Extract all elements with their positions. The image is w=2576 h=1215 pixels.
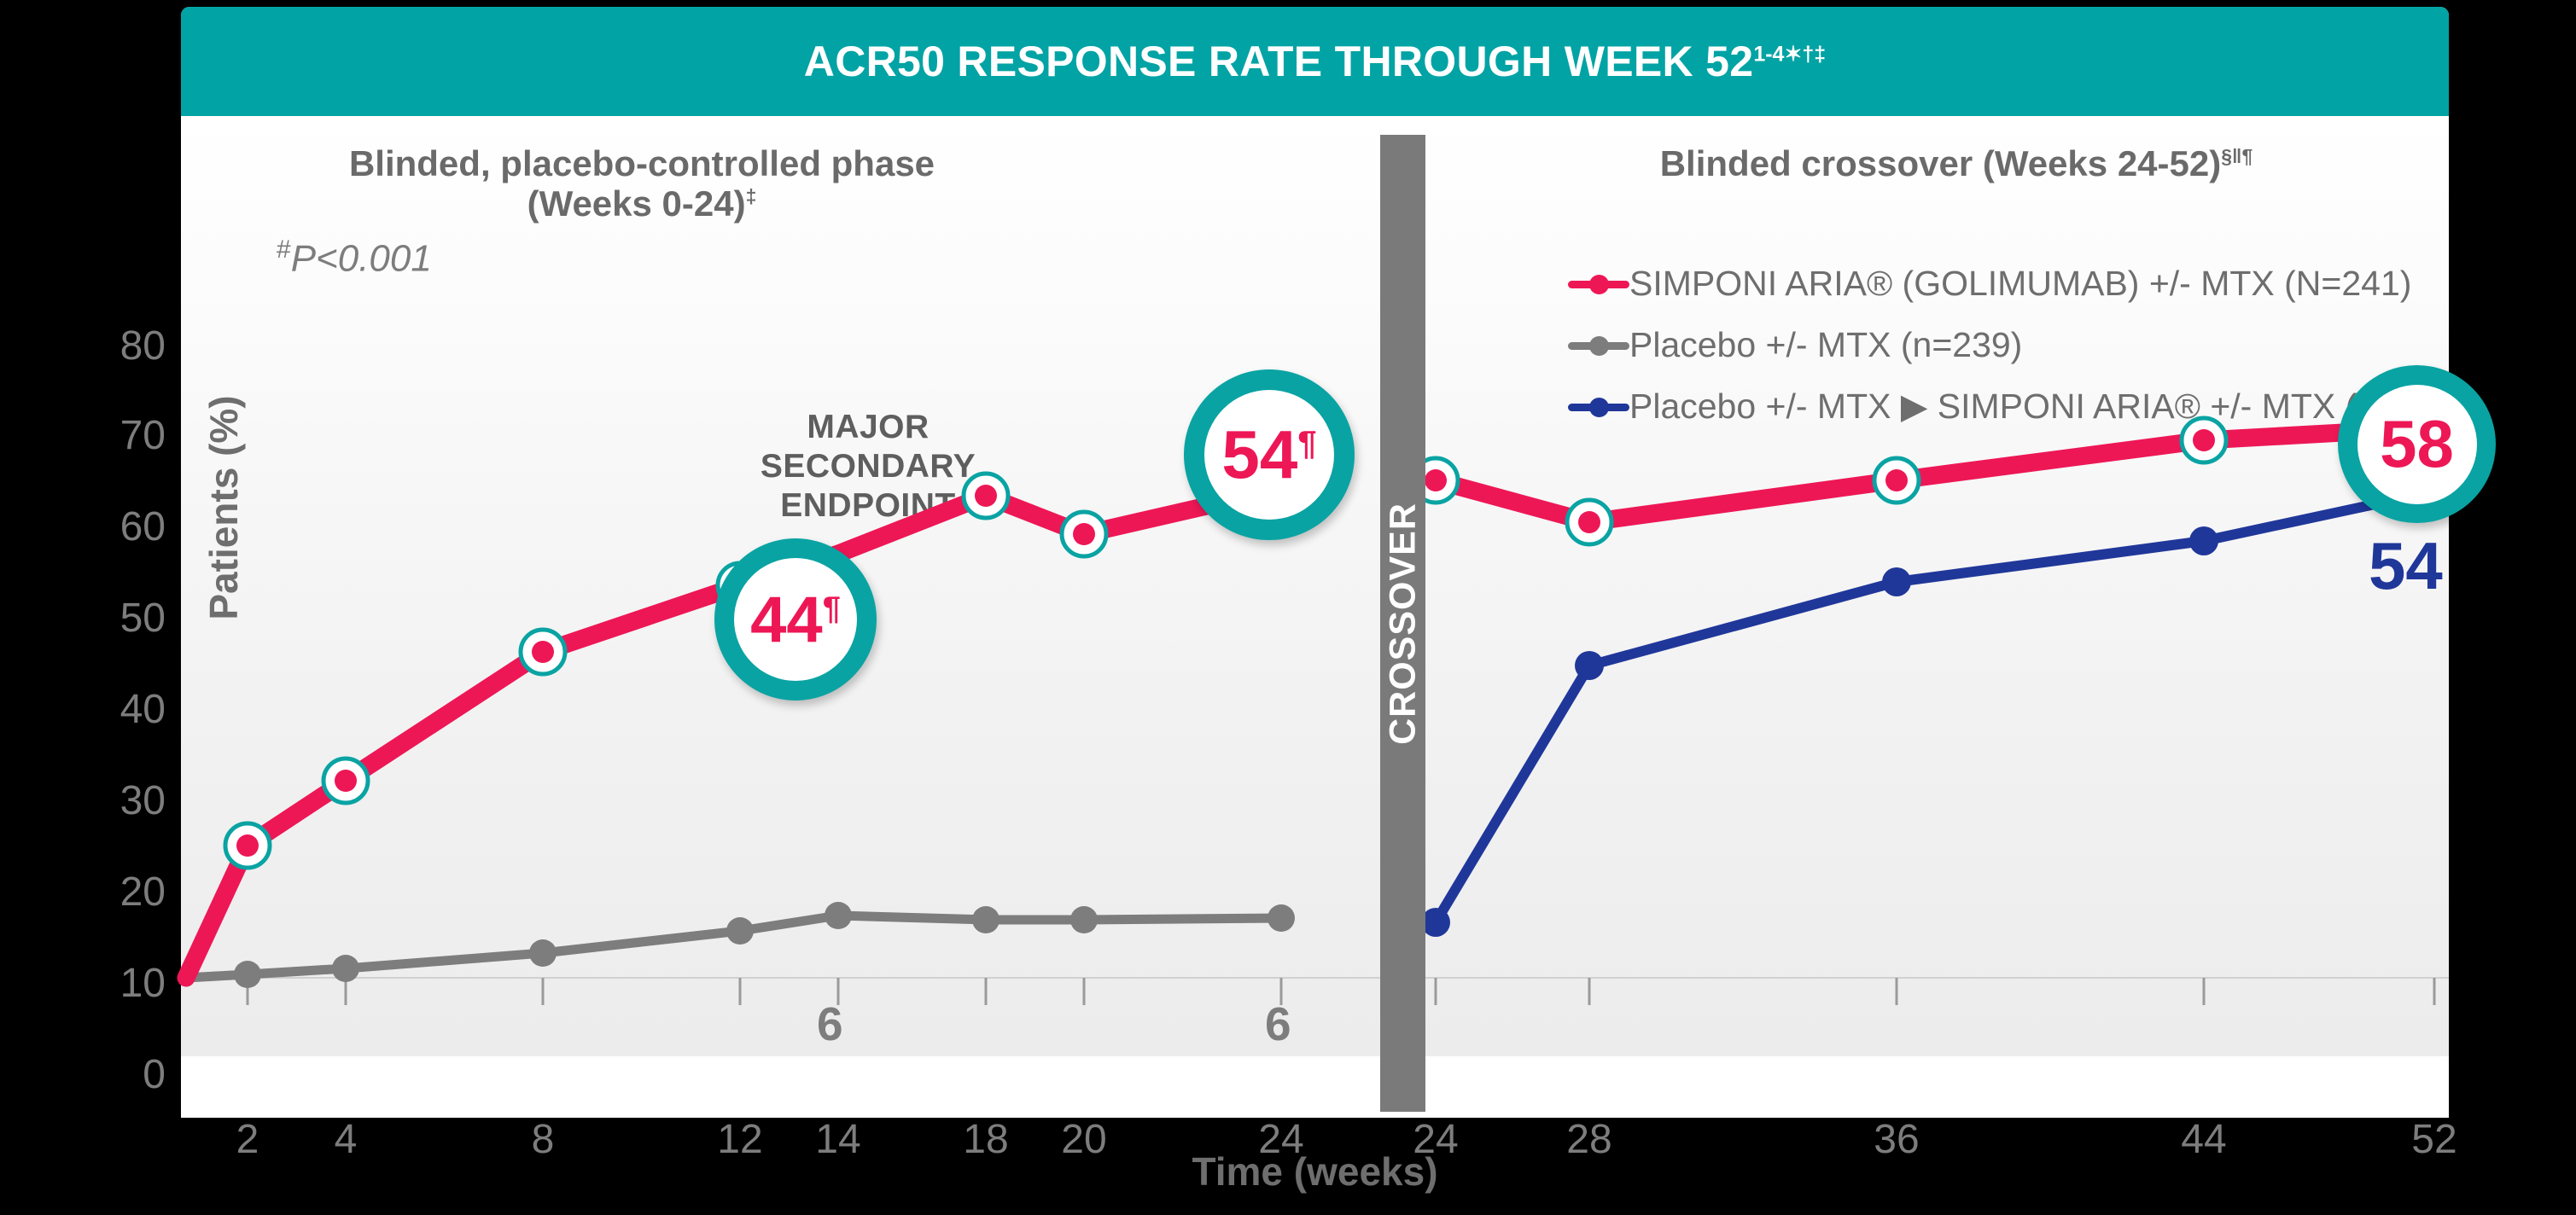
callout-bubble-58-text: 58 (2380, 405, 2454, 483)
callout-bubble-44-text: 44¶ (750, 583, 841, 657)
y-tick-20: 20 (29, 869, 166, 916)
chart-series-svg (181, 116, 2449, 1084)
callout-54-value: 54 (1221, 416, 1297, 492)
y-tick-70: 70 (29, 412, 166, 459)
callout-58-value: 58 (2380, 406, 2454, 481)
callout-44-superscript: ¶ (823, 590, 841, 626)
x-tick-marks-left (248, 978, 1281, 1005)
x-axis-title: Time (weeks) (181, 1148, 2449, 1195)
y-axis-title: Patients (%) (201, 328, 247, 687)
chart-title: ACR50 RESPONSE RATE THROUGH WEEK 521-4✶†… (804, 37, 1826, 86)
crossover-divider-bar: CROSSOVER (1380, 135, 1425, 1112)
y-tick-10: 10 (29, 960, 166, 1007)
callout-bubble-44[interactable]: 44¶ (714, 538, 877, 701)
callout-44-value: 44 (750, 584, 823, 656)
screenshot-root: ACR50 RESPONSE RATE THROUGH WEEK 521-4✶†… (0, 0, 2576, 1215)
series-line-placebo-crossover (1436, 491, 2434, 922)
endlabel-54-blue: 54 (2369, 527, 2443, 605)
plot-area (181, 116, 2449, 1084)
x-tick-marks-right (1436, 978, 2434, 1005)
placebo-value-label-week24: 6 (1265, 997, 1291, 1051)
y-tick-80: 80 (29, 323, 166, 369)
chart-header-bar: ACR50 RESPONSE RATE THROUGH WEEK 521-4✶†… (181, 7, 2449, 116)
placebo-value-label-week14: 6 (817, 997, 843, 1051)
y-tick-60: 60 (29, 503, 166, 550)
callout-bubble-58[interactable]: 58 (2338, 365, 2496, 523)
y-tick-50: 50 (29, 595, 166, 642)
callout-bubble-54-text: 54¶ (1221, 416, 1316, 494)
y-tick-30: 30 (29, 777, 166, 824)
series-points-placebo-crossover (1421, 526, 2218, 937)
callout-54-superscript: ¶ (1297, 424, 1316, 462)
y-tick-0: 0 (29, 1051, 166, 1098)
chart-title-superscript: 1-4✶†‡ (1753, 42, 1826, 66)
callout-bubble-54[interactable]: 54¶ (1184, 369, 1355, 540)
chart-title-text: ACR50 RESPONSE RATE THROUGH WEEK 52 (804, 38, 1754, 85)
chart-card: ACR50 RESPONSE RATE THROUGH WEEK 521-4✶†… (181, 7, 2449, 1118)
crossover-label: CROSSOVER (1382, 503, 1424, 745)
y-tick-40: 40 (29, 686, 166, 733)
